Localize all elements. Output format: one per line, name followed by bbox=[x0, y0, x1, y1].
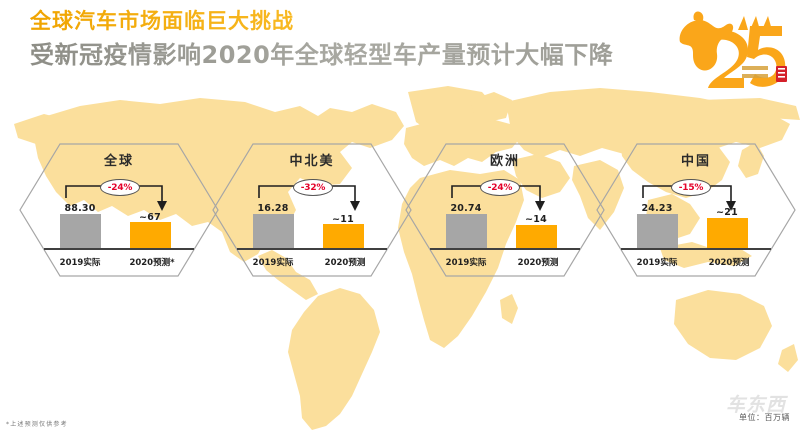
chart-baseline bbox=[44, 248, 194, 250]
bar-actual bbox=[446, 214, 487, 248]
anniversary-25-logo bbox=[664, 8, 792, 100]
region-bar-chart: -24% 88.30 ~67 2019实际 2020预测* bbox=[44, 176, 194, 272]
bar-value-actual: 16.28 bbox=[245, 203, 301, 214]
title-block: 全球汽车市场面临巨大挑战 受新冠疫情影响2020年全球轻型车产量预计大幅下降 bbox=[30, 8, 670, 72]
region-panel-global[interactable]: 全球 -24% 88.30 ~67 2019实际 2020预测* bbox=[16, 140, 222, 280]
slide-canvas: 全球汽车市场面临巨大挑战 受新冠疫情影响2020年全球轻型车产量预计大幅下降 bbox=[0, 0, 800, 435]
bar-forecast bbox=[707, 218, 748, 248]
bar-actual bbox=[637, 214, 678, 248]
chart-baseline bbox=[430, 248, 580, 250]
bar-label-actual: 2019实际 bbox=[237, 256, 309, 268]
bar-label-forecast: 2020预测 bbox=[502, 256, 574, 268]
bar-label-forecast: 2020预测* bbox=[116, 256, 188, 268]
bar-value-actual: 24.23 bbox=[629, 203, 685, 214]
region-panel-europe[interactable]: 欧洲 -24% 20.74 ~14 2019实际 2020预测 bbox=[402, 140, 608, 280]
bar-actual bbox=[60, 214, 101, 248]
unit-note: 单位：百万辆 bbox=[739, 412, 790, 423]
region-title: 欧洲 bbox=[402, 150, 608, 169]
region-bar-chart: -32% 16.28 ~11 2019实际 2020预测 bbox=[237, 176, 387, 272]
footnote: *上述预测仅供参考 bbox=[6, 419, 68, 428]
bar-value-actual: 20.74 bbox=[438, 203, 494, 214]
bar-label-actual: 2019实际 bbox=[621, 256, 693, 268]
bar-forecast bbox=[130, 222, 171, 248]
region-bar-chart: -24% 20.74 ~14 2019实际 2020预测 bbox=[430, 176, 580, 272]
chart-baseline bbox=[237, 248, 387, 250]
region-title: 中北美 bbox=[209, 150, 415, 169]
delta-badge: -32% bbox=[293, 179, 333, 196]
bar-label-actual: 2019实际 bbox=[430, 256, 502, 268]
bar-label-actual: 2019实际 bbox=[44, 256, 116, 268]
region-title: 全球 bbox=[16, 150, 222, 169]
bar-value-forecast: ~14 bbox=[508, 214, 564, 225]
delta-badge: -15% bbox=[671, 179, 711, 196]
bar-label-forecast: 2020预测 bbox=[693, 256, 765, 268]
delta-badge: -24% bbox=[480, 179, 520, 196]
region-panel-china[interactable]: 中国 -15% 24.23 ~21 2019实际 2020预测 bbox=[593, 140, 799, 280]
delta-badge: -24% bbox=[100, 179, 140, 196]
bar-forecast bbox=[323, 224, 364, 248]
bar-actual bbox=[253, 214, 294, 248]
bar-value-forecast: ~21 bbox=[699, 207, 755, 218]
bar-value-actual: 88.30 bbox=[52, 203, 108, 214]
region-bar-chart: -15% 24.23 ~21 2019实际 2020预测 bbox=[621, 176, 771, 272]
region-title: 中国 bbox=[593, 150, 799, 169]
bar-label-forecast: 2020预测 bbox=[309, 256, 381, 268]
region-panel-north-central-america[interactable]: 中北美 -32% 16.28 ~11 2019实际 2020预测 bbox=[209, 140, 415, 280]
bar-forecast bbox=[516, 225, 557, 248]
page-title-primary: 全球汽车市场面临巨大挑战 bbox=[30, 8, 670, 34]
page-title-secondary: 受新冠疫情影响2020年全球轻型车产量预计大幅下降 bbox=[30, 38, 670, 72]
chart-baseline bbox=[621, 248, 771, 250]
